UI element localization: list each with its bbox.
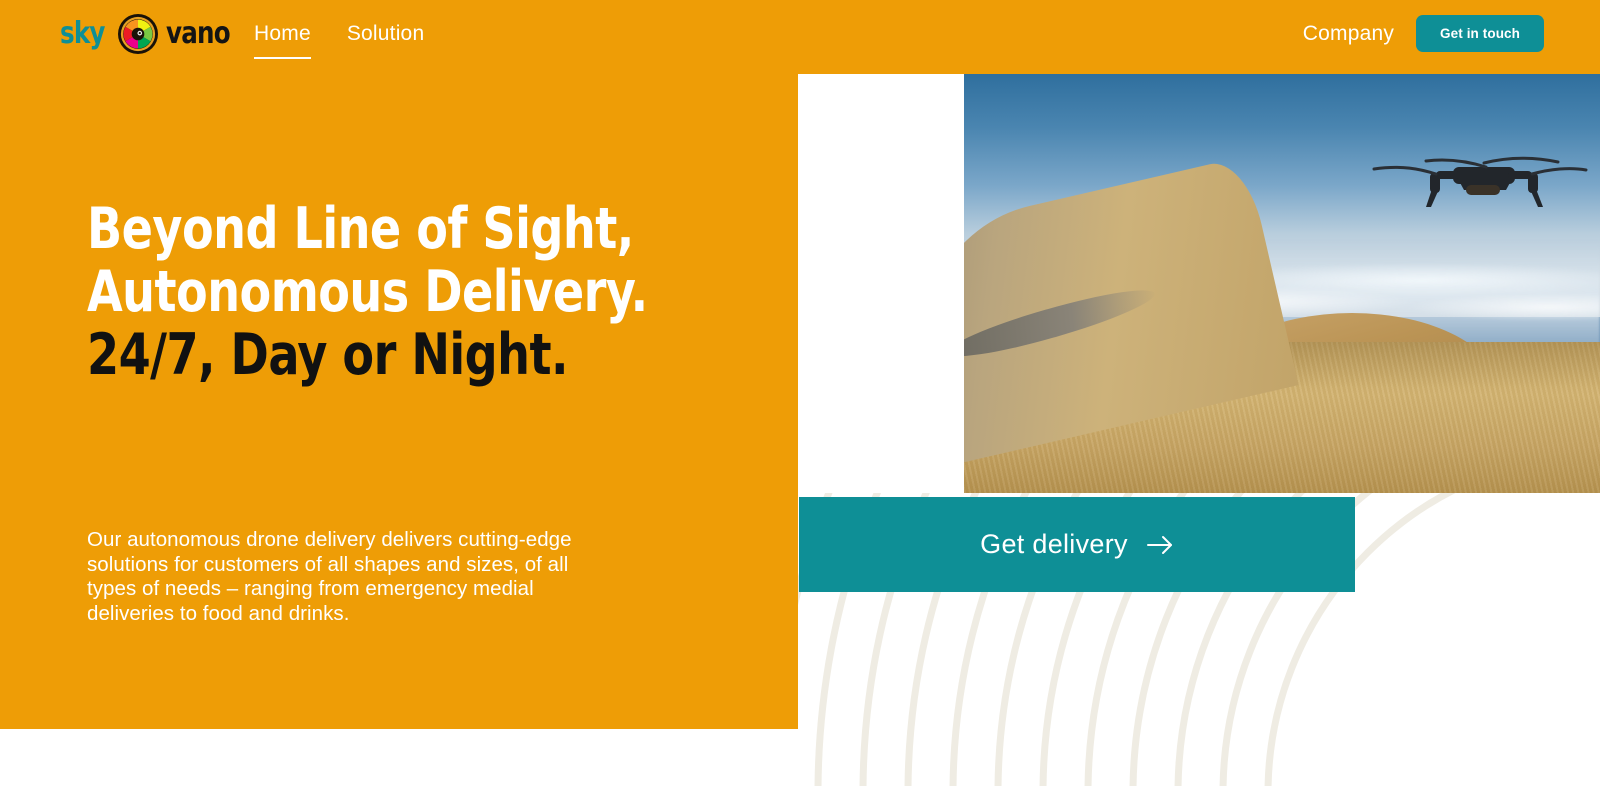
hero-photo <box>964 74 1600 493</box>
nav-link-home[interactable]: Home <box>254 20 311 59</box>
brand-name-vano: vano <box>166 19 230 49</box>
get-delivery-button[interactable]: Get delivery <box>799 497 1355 592</box>
nav-link-company[interactable]: Company <box>1303 22 1394 46</box>
get-delivery-label: Get delivery <box>980 529 1128 560</box>
brand-name-sky: sky <box>60 19 105 49</box>
hero-headline-block: Beyond Line of Sight, Autonomous Deliver… <box>87 198 707 387</box>
brand-logo[interactable]: sky van <box>60 14 244 54</box>
headline-line-1: Beyond Line of Sight, <box>87 198 645 261</box>
drone-icon <box>1358 145 1588 215</box>
headline-line-2: Autonomous Delivery. <box>87 261 645 324</box>
arrow-right-icon <box>1146 534 1174 556</box>
get-in-touch-button[interactable]: Get in touch <box>1416 15 1544 52</box>
camera-aperture-icon <box>118 14 158 54</box>
page-title: Beyond Line of Sight, Autonomous Deliver… <box>87 198 645 387</box>
nav-link-solution[interactable]: Solution <box>347 20 425 57</box>
page-root: Get delivery Beyond Line of Sight, Auton… <box>0 0 1600 786</box>
top-navigation: sky van <box>0 0 1600 74</box>
headline-line-3: 24/7, Day or Night. <box>87 324 645 387</box>
nav-right-group: Company Get in touch <box>1303 15 1544 52</box>
hero-paragraph: Our autonomous drone delivery delivers c… <box>87 528 607 626</box>
nav-links: Home Solution <box>254 20 424 59</box>
